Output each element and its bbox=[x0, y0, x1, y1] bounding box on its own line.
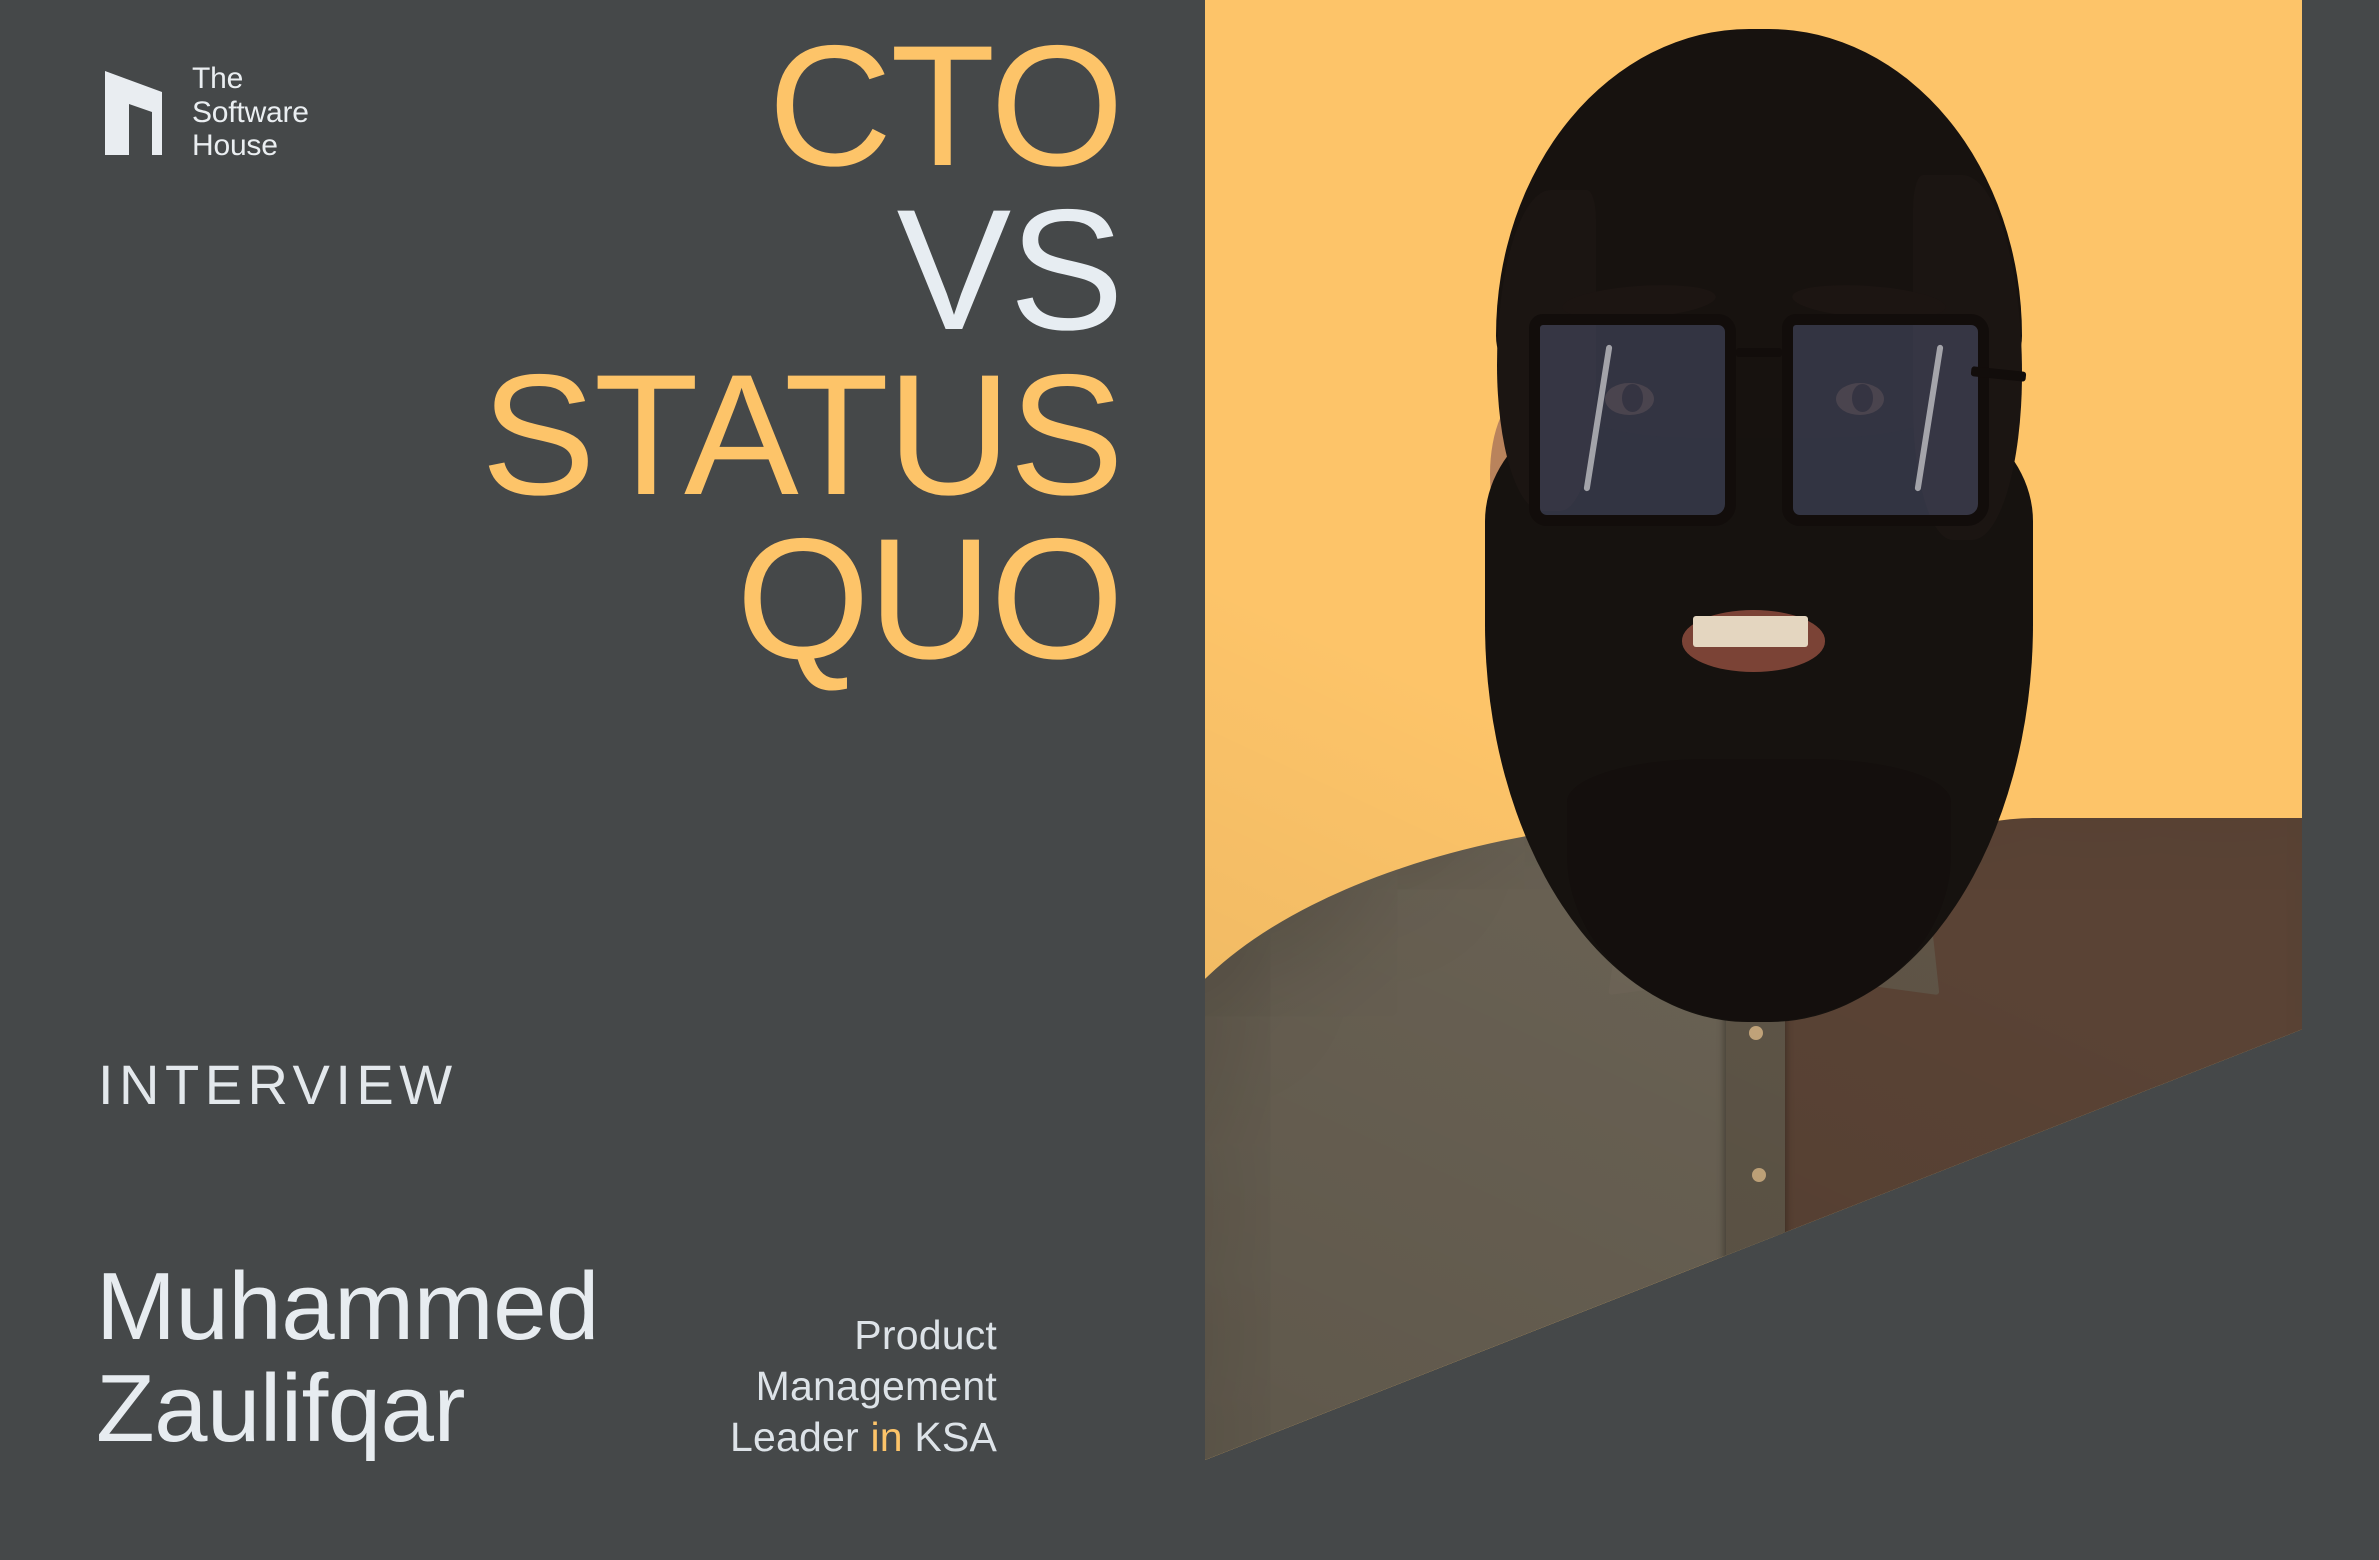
headline-line-quo: QUO bbox=[0, 517, 1122, 681]
headline-line-vs: VS bbox=[0, 188, 1122, 352]
lens-glare bbox=[1584, 344, 1613, 491]
lens-glare bbox=[1915, 344, 1944, 491]
headline-line-cto: CTO bbox=[0, 24, 1122, 188]
speaker-role-line-1: Product bbox=[477, 1310, 997, 1361]
speaker-role-line-2: Management bbox=[477, 1361, 997, 1412]
glasses-bridge bbox=[1736, 348, 1782, 357]
interview-promo-card: The Software House CTO VS STATUS QUO INT… bbox=[0, 0, 2379, 1560]
speaker-role-prefix: Leader bbox=[730, 1414, 870, 1460]
portrait-glasses-icon bbox=[1529, 314, 1990, 526]
glasses-lens-left bbox=[1529, 314, 1736, 526]
headline-line-status: STATUS bbox=[0, 353, 1122, 517]
interview-kicker-label: INTERVIEW bbox=[98, 1052, 458, 1117]
portrait-teeth bbox=[1693, 616, 1808, 647]
speaker-photo-panel bbox=[1205, 0, 2302, 1460]
speaker-role-accent: in bbox=[870, 1414, 902, 1460]
speaker-role: Product Management Leader in KSA bbox=[477, 1310, 997, 1462]
speaker-role-suffix: KSA bbox=[903, 1414, 997, 1460]
glasses-lens-right bbox=[1782, 314, 1989, 526]
speaker-role-line-3: Leader in KSA bbox=[477, 1412, 997, 1463]
speaker-portrait-image bbox=[1205, 0, 2302, 1460]
headline: CTO VS STATUS QUO bbox=[0, 24, 1122, 681]
